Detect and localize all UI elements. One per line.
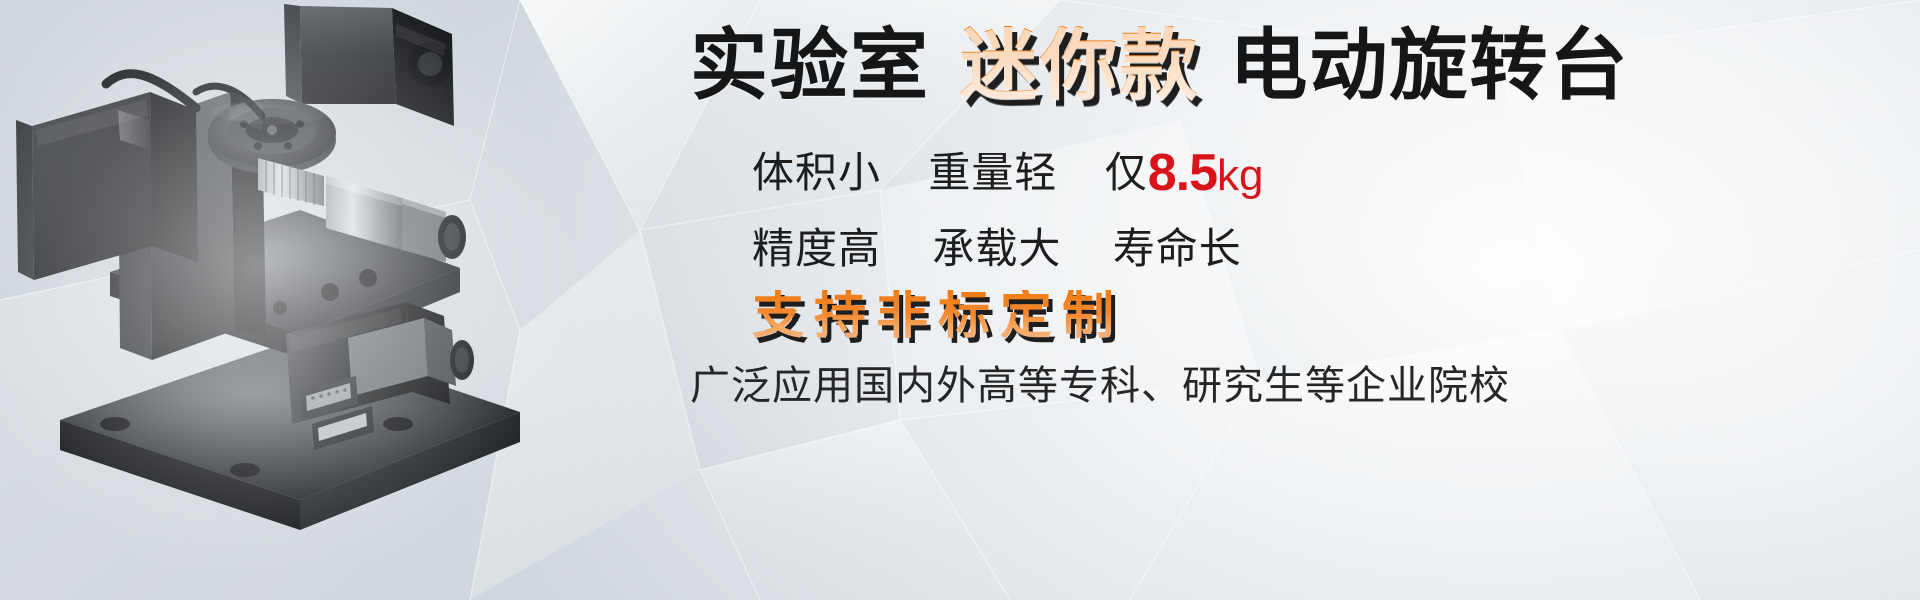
feature-high-load: 承载大: [932, 225, 1061, 272]
feature-line-1: 体积小 重量轻 仅8.5kg: [752, 147, 1264, 199]
weight-prefix: 仅: [1105, 149, 1148, 196]
application-description: 广泛应用国内外高等专科、研究生等企业院校: [690, 366, 1510, 406]
weight-value: 8.5: [1148, 144, 1217, 202]
marketing-copy: 实验室 迷你款 电动旋转台 体积小 重量轻 仅8.5kg 精度高 承载大 寿命长…: [690, 0, 1850, 600]
headline-part-1: 实验室: [690, 21, 930, 109]
custom-order-callout: 支持非标定制: [752, 290, 1124, 342]
feature-line-2: 精度高 承载大 寿命长: [752, 228, 1242, 270]
feature-high-precision: 精度高: [752, 225, 881, 272]
headline-accent: 迷你款: [954, 26, 1206, 104]
feature-long-life: 寿命长: [1113, 225, 1242, 272]
feature-compact-size: 体积小: [752, 149, 881, 196]
weight-unit: kg: [1217, 151, 1263, 200]
product-image: [0, 0, 700, 600]
headline: 实验室 迷你款 电动旋转台: [690, 26, 1629, 104]
headline-part-2: 电动旋转台: [1229, 21, 1629, 109]
feature-light-weight: 重量轻: [928, 149, 1057, 196]
promo-banner: 实验室 迷你款 电动旋转台 体积小 重量轻 仅8.5kg 精度高 承载大 寿命长…: [0, 0, 1920, 600]
